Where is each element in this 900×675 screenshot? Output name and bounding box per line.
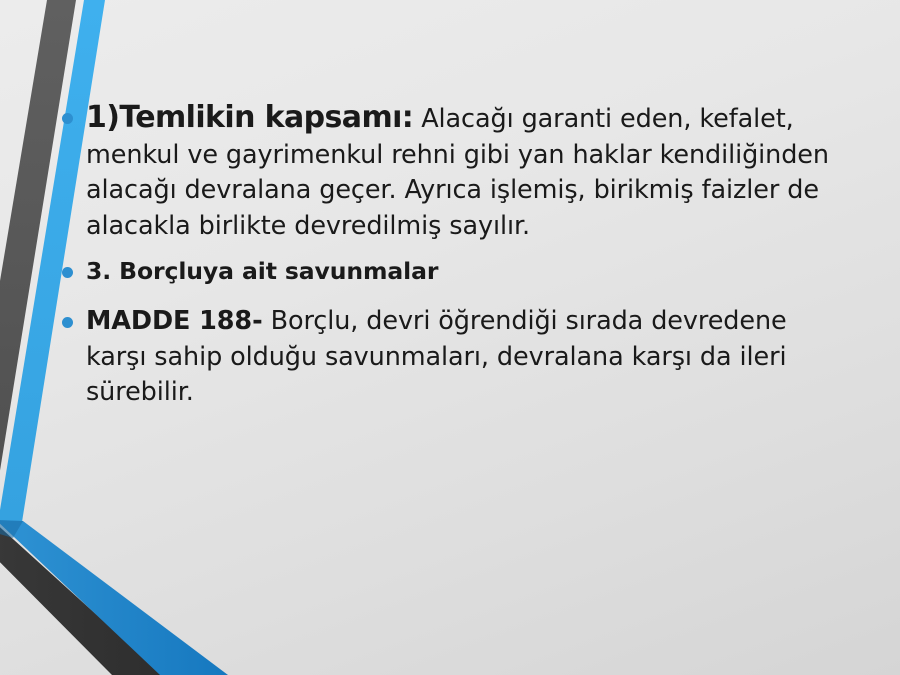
bullet-1-lead: 1)Temlikin kapsamı: <box>86 100 413 135</box>
bullet-list: 1)Temlikin kapsamı: Alacağı garanti eden… <box>58 100 848 411</box>
bullet-2-lead: 3. Borçluya ait savunmalar <box>86 257 438 285</box>
gray-band-diagonal <box>0 520 163 675</box>
list-item: 1)Temlikin kapsamı: Alacağı garanti eden… <box>58 100 848 244</box>
list-item: 3. Borçluya ait savunmalar <box>58 254 848 288</box>
list-item: MADDE 188- Borçlu, devri öğrendiği sırad… <box>58 304 848 411</box>
slide-body: 1)Temlikin kapsamı: Alacağı garanti eden… <box>58 100 848 417</box>
corner-shadow-wedge <box>0 520 23 538</box>
bullet-3-lead: MADDE 188- <box>86 306 263 336</box>
blue-band-diagonal <box>0 520 228 675</box>
slide-canvas: 1)Temlikin kapsamı: Alacağı garanti eden… <box>0 0 900 675</box>
